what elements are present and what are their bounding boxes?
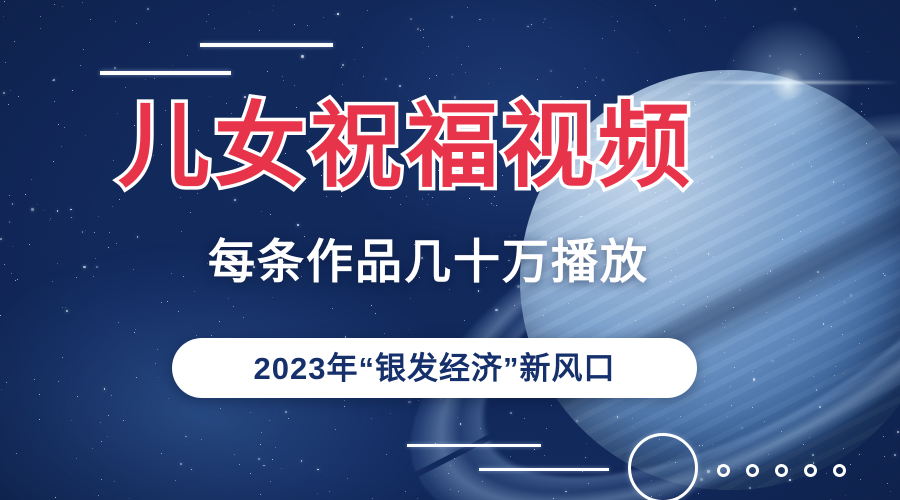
main-title: 儿女祝福视频 bbox=[118, 101, 694, 193]
badge-label: 2023年“银发经济”新风口 bbox=[254, 353, 616, 384]
subtitle: 每条作品几十万播放 bbox=[208, 238, 649, 285]
poster-canvas: 儿女祝福视频 每条作品几十万播放 2023年“银发经济”新风口 bbox=[0, 0, 900, 500]
badge-pill: 2023年“银发经济”新风口 bbox=[172, 338, 697, 398]
text-content: 儿女祝福视频 每条作品几十万播放 2023年“银发经济”新风口 bbox=[0, 0, 900, 500]
